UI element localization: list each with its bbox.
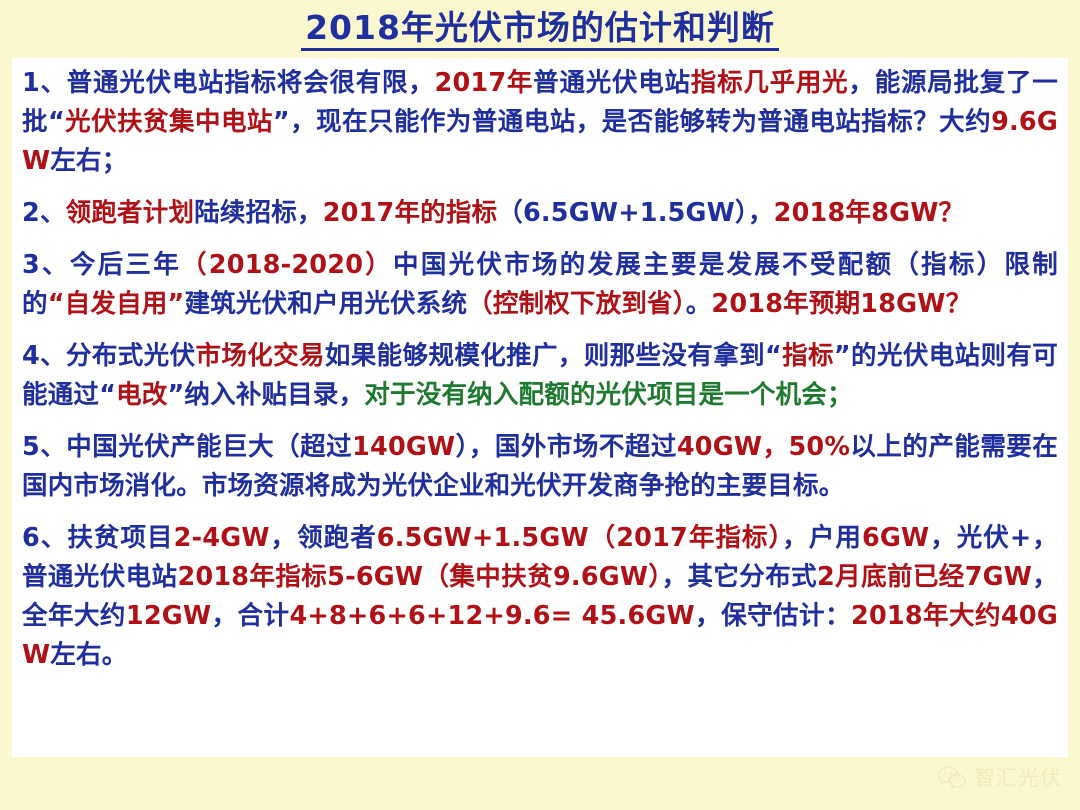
text-run: ，其它分布式 [662, 562, 817, 592]
text-run: 5、中国光伏产能巨大（超过 [22, 432, 352, 462]
text-run: ，保守估计： [695, 601, 851, 631]
text-run: 12GW [126, 601, 211, 631]
text-run: “自发自用” [48, 289, 185, 319]
text-run: 2018年8GW？ [774, 198, 965, 228]
title-bar: 2018年光伏市场的估计和判断 [0, 6, 1080, 54]
text-run: 领跑者计划 [66, 198, 195, 228]
bullet-paragraph-2: 2、领跑者计划陆续招标，2017年的指标（6.5GW+1.5GW），2018年8… [22, 194, 1058, 233]
text-run: ），国外市场不超过 [455, 432, 676, 462]
watermark: 智汇光伏 [937, 762, 1062, 792]
text-run: 40GW，50% [677, 432, 850, 462]
text-run: 市场化交易 [195, 341, 324, 371]
text-run: 左右； [50, 146, 127, 176]
bullet-paragraph-4: 4、分布式光伏市场化交易如果能够规模化推广，则那些没有拿到“指标”的光伏电站则有… [22, 337, 1058, 415]
watermark-label: 智汇光伏 [974, 762, 1062, 792]
text-run: 2、 [22, 198, 66, 228]
text-run: 普通光伏电站 [533, 68, 691, 98]
bullet-paragraph-1: 1、普通光伏电站指标将会很有限，2017年普通光伏电站指标几乎用光，能源局批复了… [22, 64, 1058, 181]
text-run: 对于没有纳入配额的光伏项目是一个机会； [364, 380, 852, 410]
wechat-icon [937, 765, 967, 789]
text-run: 左右。 [50, 640, 127, 670]
page-title: 2018年光伏市场的估计和判断 [301, 9, 779, 52]
text-run: 如果能够规模化推广，则那些没有拿到“ [325, 341, 782, 371]
bullet-paragraph-5: 5、中国光伏产能巨大（超过140GW），国外市场不超过40GW，50%以上的产能… [22, 428, 1058, 506]
text-run: 2018年指标5-6GW（集中扶贫9.6GW） [177, 562, 661, 592]
text-run: （6.5GW+1.5GW）， [497, 198, 773, 228]
text-run: 建筑光伏和户用光伏系统 [184, 289, 467, 319]
content-panel: 1、普通光伏电站指标将会很有限，2017年普通光伏电站指标几乎用光，能源局批复了… [12, 58, 1068, 757]
text-run: 指标几乎用光 [691, 68, 849, 98]
text-run: （控制权下放到省） [467, 289, 686, 319]
slide-root: 2018年光伏市场的估计和判断 1、普通光伏电站指标将会很有限，2017年普通光… [0, 0, 1080, 810]
text-run: （2018-2020） [181, 250, 393, 280]
text-run: 3、今后三年 [22, 250, 181, 280]
text-run: 140GW [352, 432, 455, 462]
text-run: 2月底前已经7GW [817, 562, 1032, 592]
text-run: 指标 [782, 341, 834, 371]
text-run: ”，现在只能作为普通电站，是否能够转为普通电站指标？大约 [273, 107, 991, 137]
text-run: 6.5GW+1.5GW（2017年指标） [377, 523, 783, 553]
text-run: 2017年的指标 [323, 198, 498, 228]
text-run: ，合计 [211, 601, 289, 631]
text-run: ，领跑者 [270, 523, 377, 553]
text-run: 1、普通光伏电站指标将会很有限， [22, 68, 435, 98]
bullet-paragraph-6: 6、扶贫项目2-4GW，领跑者6.5GW+1.5GW（2017年指标），户用6G… [22, 519, 1058, 675]
text-run: 2-4GW [174, 523, 270, 553]
text-run: 陆续招标， [194, 198, 323, 228]
bullet-paragraph-3: 3、今后三年（2018-2020）中国光伏市场的发展主要是发展不受配额（指标）限… [22, 246, 1058, 324]
text-run: 6GW [862, 523, 929, 553]
text-run: 2017年 [435, 68, 534, 98]
text-run: 2018年预期18GW？ [711, 289, 971, 319]
text-run: ，户用 [782, 523, 862, 553]
text-run: 。 [686, 289, 712, 319]
text-run: 4、分布式光伏 [22, 341, 195, 371]
text-run: 电改 [116, 380, 167, 410]
text-run: 4+8+6+6+12+9.6= 45.6GW [289, 601, 694, 631]
text-run: 光伏扶贫集中电站 [65, 107, 273, 137]
text-run: 6、扶贫项目 [22, 523, 174, 553]
text-run: ”纳入补贴目录， [167, 380, 364, 410]
